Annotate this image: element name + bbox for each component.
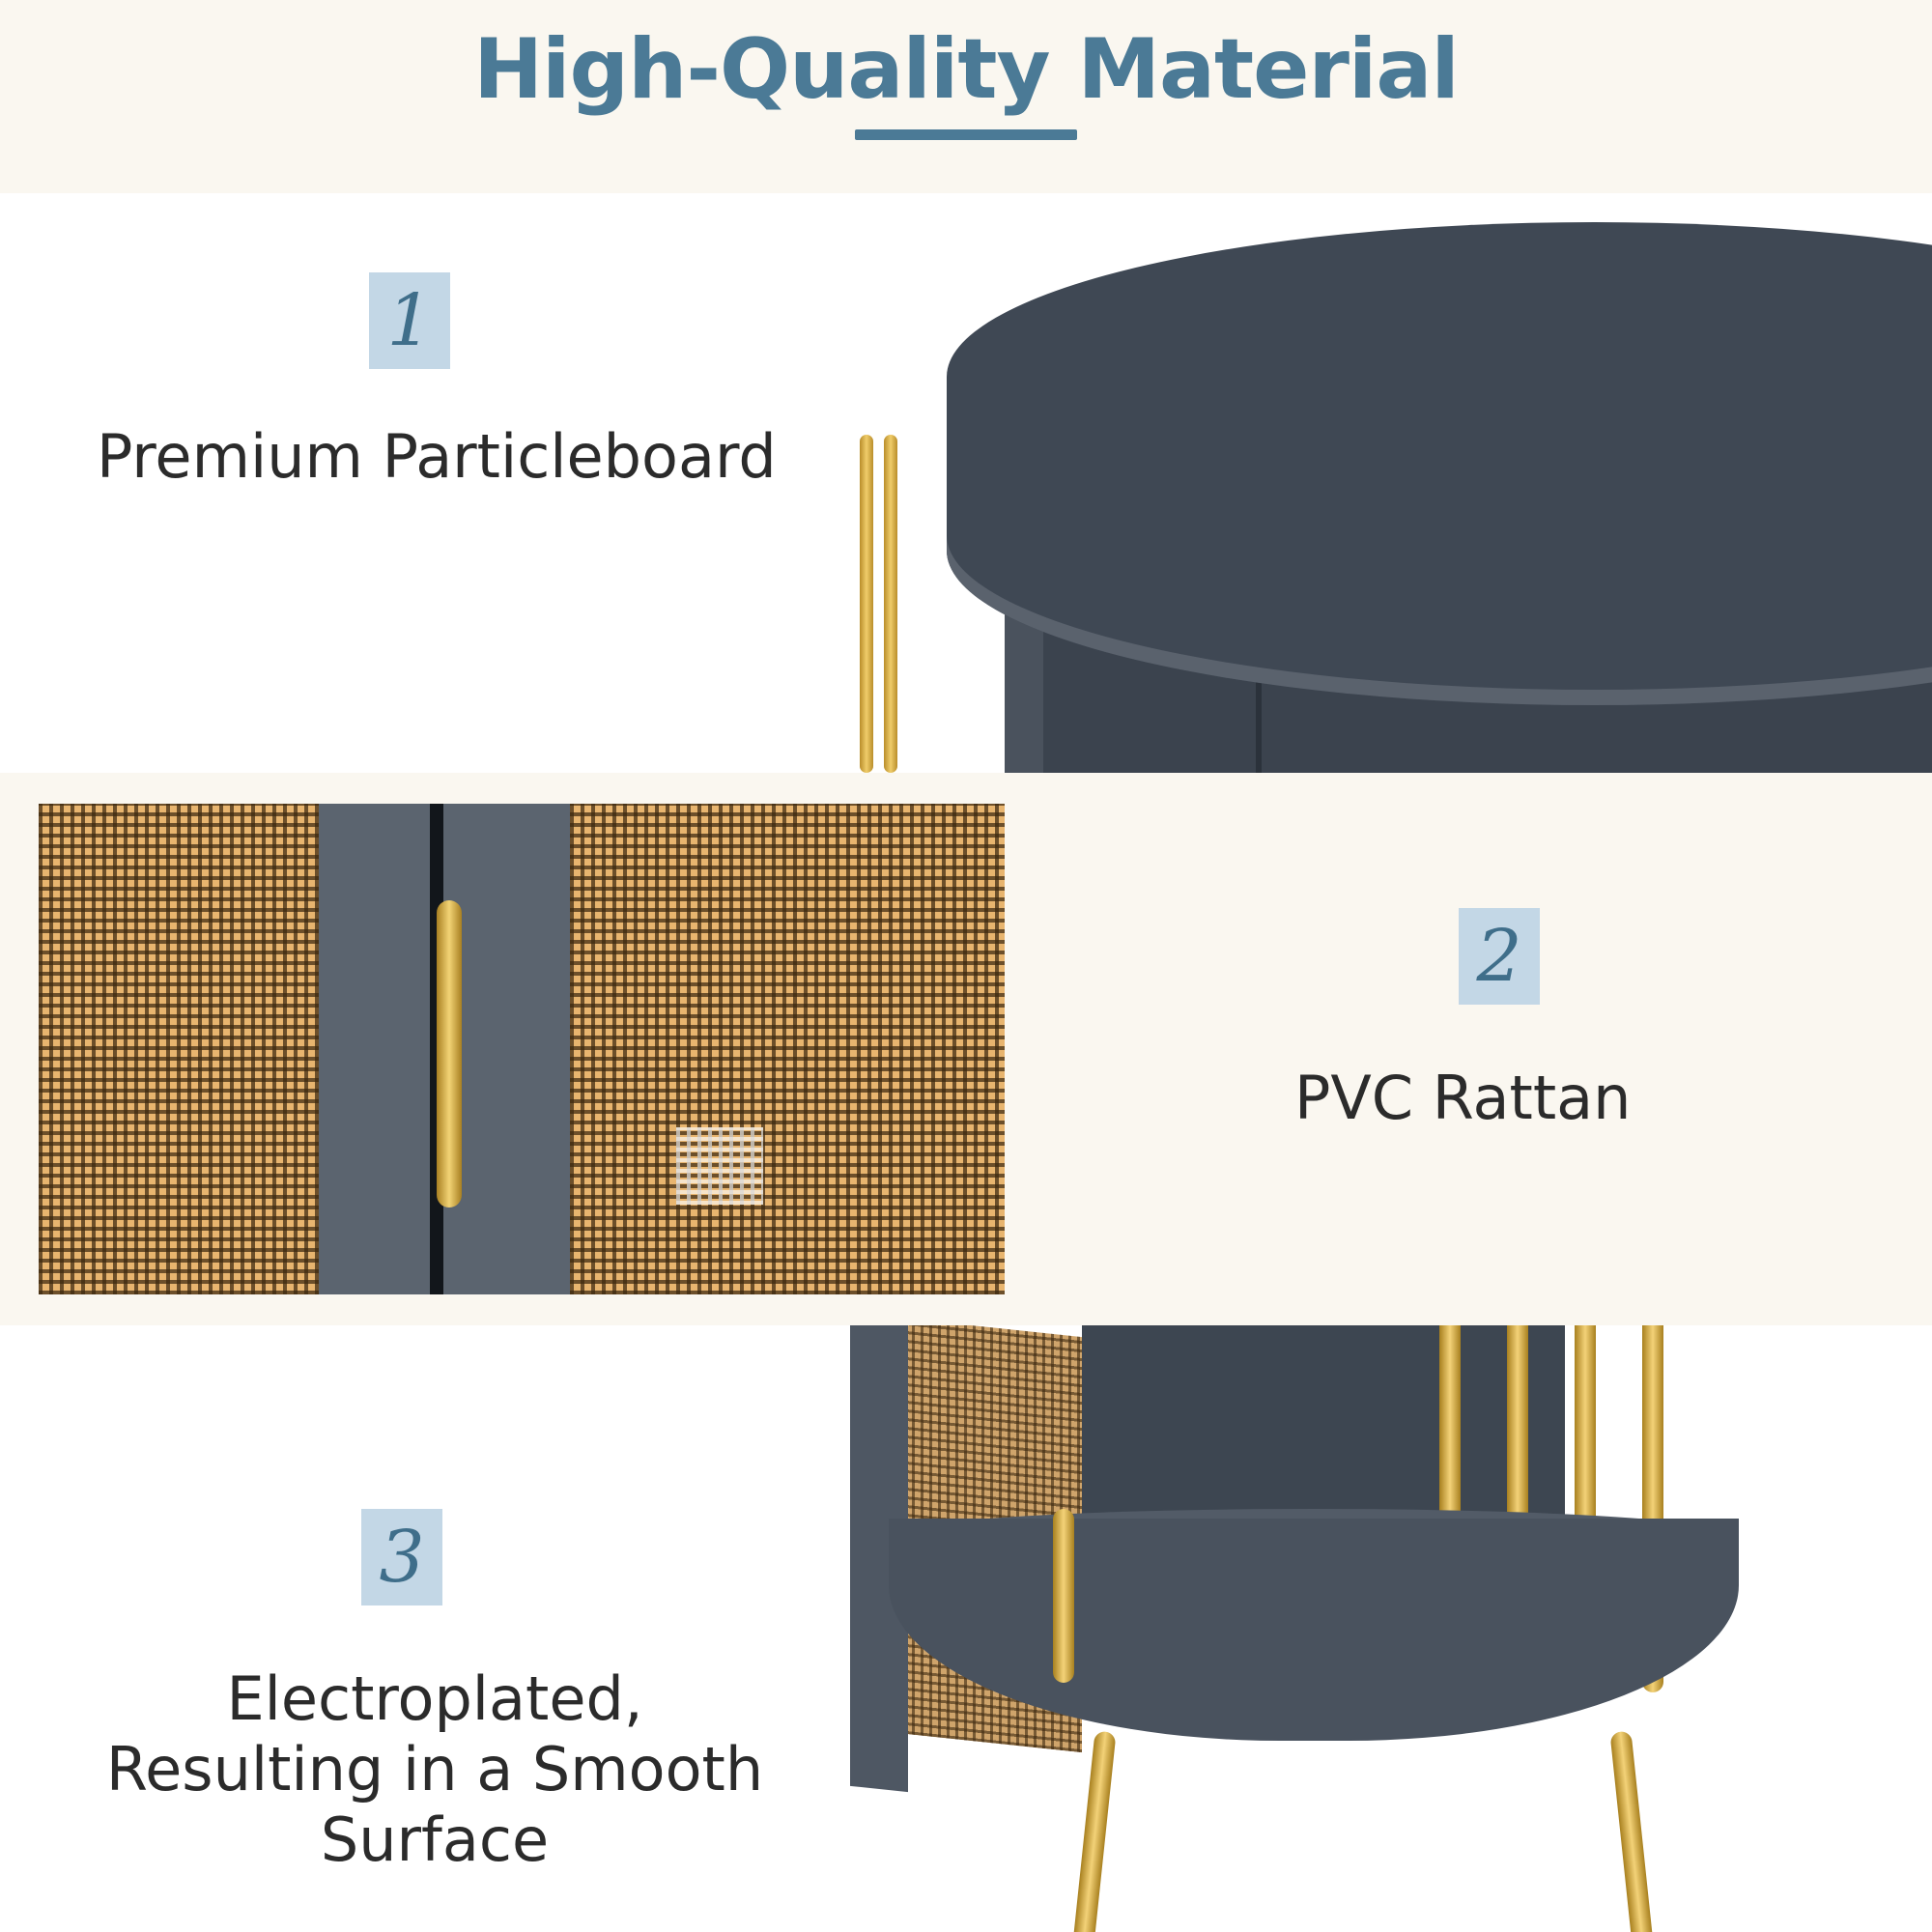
section-electroplated: 3 Electroplated, Resulting in a Smooth S… — [0, 1325, 1932, 1932]
table-top-surface — [947, 222, 1932, 705]
section-premium-particleboard: 1 Premium Particleboard — [0, 193, 1932, 773]
gold-rod-icon — [860, 435, 873, 773]
section-2-text-column: 2 PVC Rattan — [1024, 773, 1932, 1325]
step-number-2: 2 — [1459, 908, 1540, 1005]
section-1-text-column: 1 Premium Particleboard — [0, 193, 850, 773]
step-badge-3: 3 — [361, 1509, 442, 1605]
section-3-text-column: 3 Electroplated, Resulting in a Smooth S… — [0, 1325, 850, 1932]
photo-electroplated-legs — [850, 1325, 1932, 1932]
gold-leg-icon — [1068, 1731, 1116, 1932]
step-number-3: 3 — [361, 1509, 442, 1605]
rattan-weave-right — [570, 804, 1005, 1294]
step-label-1: Premium Particleboard — [97, 421, 831, 492]
section-pvc-rattan: 2 PVC Rattan — [0, 773, 1932, 1325]
gold-rod-icon — [884, 435, 897, 773]
rattan-highlight — [676, 1127, 763, 1205]
infographic-page: High-Quality Material 1 Premium Particle… — [0, 0, 1932, 1932]
step-label-3-line-2: Resulting in a Smooth Surface — [19, 1734, 850, 1875]
step-label-2: PVC Rattan — [1294, 1063, 1932, 1133]
step-label-3: Electroplated, Resulting in a Smooth Sur… — [19, 1663, 850, 1875]
title-underline — [855, 129, 1077, 140]
step-badge-2: 2 — [1459, 908, 1540, 1005]
step-badge-1: 1 — [369, 272, 450, 369]
rattan-weave-left — [39, 804, 319, 1294]
gold-handle-icon — [437, 900, 462, 1207]
step-label-3-line-1: Electroplated, — [19, 1663, 850, 1734]
gold-rod-icon — [1053, 1509, 1074, 1683]
page-title: High-Quality Material — [473, 21, 1459, 118]
step-number-1: 1 — [369, 272, 450, 369]
photo-pvc-rattan — [39, 804, 1005, 1294]
photo-premium-particleboard — [850, 193, 1932, 773]
header: High-Quality Material — [0, 0, 1932, 189]
gold-leg-icon — [1609, 1731, 1657, 1932]
